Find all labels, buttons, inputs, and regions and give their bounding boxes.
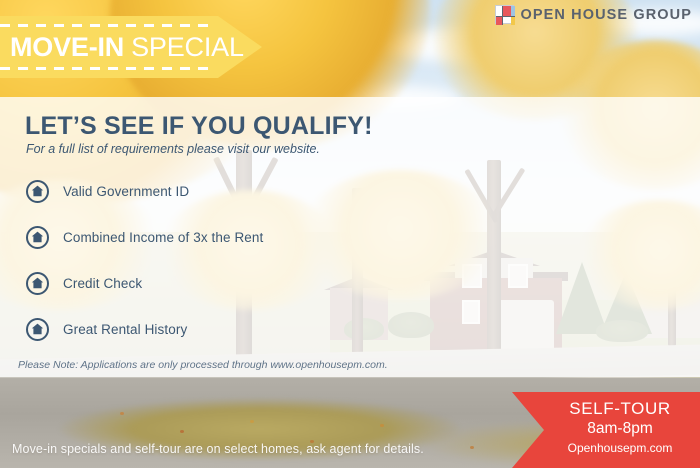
self-tour-title: SELF-TOUR (546, 398, 694, 419)
home-icon (26, 180, 49, 203)
leaf (470, 446, 474, 449)
leaf (180, 430, 184, 433)
list-item-label: Credit Check (63, 276, 142, 291)
leaf (380, 424, 384, 427)
list-item-label: Great Rental History (63, 322, 187, 337)
page-title: LET’S SEE IF YOU QUALIFY! (25, 112, 373, 141)
list-item-label: Combined Income of 3x the Rent (63, 230, 263, 245)
page-subtitle: For a full list of requirements please v… (26, 142, 320, 156)
self-tour-hours: 8am-8pm (546, 419, 694, 440)
qualification-list: Valid Government ID Combined Income of 3… (26, 168, 446, 352)
banner-text-strong: MOVE-IN (10, 32, 124, 63)
home-icon (26, 272, 49, 295)
leaf (120, 412, 124, 415)
list-item: Combined Income of 3x the Rent (26, 214, 446, 260)
leaf (250, 420, 254, 423)
banner-text-light: SPECIAL (131, 32, 244, 63)
list-item: Great Rental History (26, 306, 446, 352)
marketing-flyer: MOVE-IN SPECIAL OPEN HOUSE GROUP LET’S S… (0, 0, 700, 468)
banner-text: MOVE-IN SPECIAL (10, 16, 262, 78)
list-item: Valid Government ID (26, 168, 446, 214)
home-icon (26, 226, 49, 249)
footer-disclaimer: Move-in specials and self-tour are on se… (12, 442, 424, 456)
logo-block-yellow (511, 17, 515, 25)
self-tour-flag: SELF-TOUR 8am-8pm Openhousepm.com (512, 392, 700, 468)
logo-grid-line-horizontal (496, 16, 515, 17)
logo-wordmark: OPEN HOUSE GROUP (521, 7, 693, 23)
brand-logo: OPEN HOUSE GROUP (495, 5, 693, 24)
list-item-label: Valid Government ID (63, 184, 189, 199)
move-in-special-banner: MOVE-IN SPECIAL (0, 16, 262, 78)
mondrian-house-mark-icon (495, 5, 514, 24)
home-icon (26, 318, 49, 341)
application-note: Please Note: Applications are only proce… (18, 359, 388, 371)
list-item: Credit Check (26, 260, 446, 306)
self-tour-website: Openhousepm.com (546, 440, 694, 457)
flag-content: SELF-TOUR 8am-8pm Openhousepm.com (546, 398, 694, 457)
